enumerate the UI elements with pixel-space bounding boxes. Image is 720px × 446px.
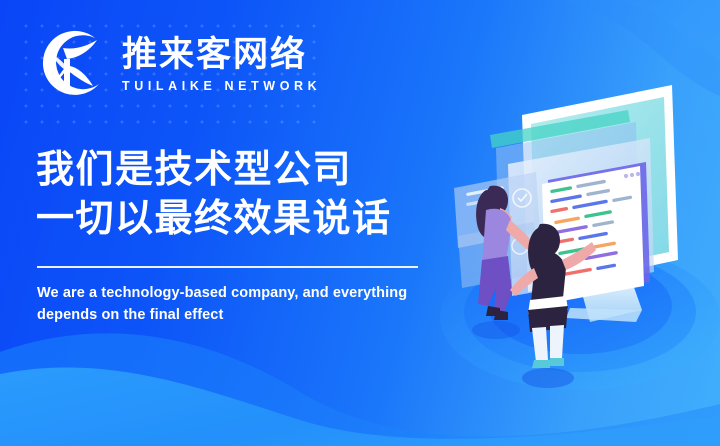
subheadline-line-1: We are a technology-based company, and e… [37, 282, 449, 304]
banner-content: 推来客网络 TUILAIKE NETWORK 我们是技术型公司 一切以最终效果说… [0, 0, 470, 446]
subheadline: We are a technology-based company, and e… [37, 282, 449, 327]
headline-line-2: 一切以最终效果说话 [36, 195, 392, 244]
headline: 我们是技术型公司 一切以最终效果说话 [36, 146, 392, 243]
hero-illustration [430, 60, 720, 390]
headline-line-1: 我们是技术型公司 [36, 146, 392, 195]
logo-lockup: 推来客网络 TUILAIKE NETWORK [33, 26, 321, 104]
headline-divider [37, 266, 418, 268]
tuilaike-logo-icon [33, 26, 111, 104]
logo-company-name-cn: 推来客网络 [122, 36, 321, 75]
subheadline-line-2: depends on the final effect [37, 304, 449, 326]
logo-company-name-en: TUILAIKE NETWORK [122, 79, 321, 94]
logo-wordmark: 推来客网络 TUILAIKE NETWORK [122, 36, 321, 95]
promo-banner: 推来客网络 TUILAIKE NETWORK 我们是技术型公司 一切以最终效果说… [0, 0, 720, 446]
